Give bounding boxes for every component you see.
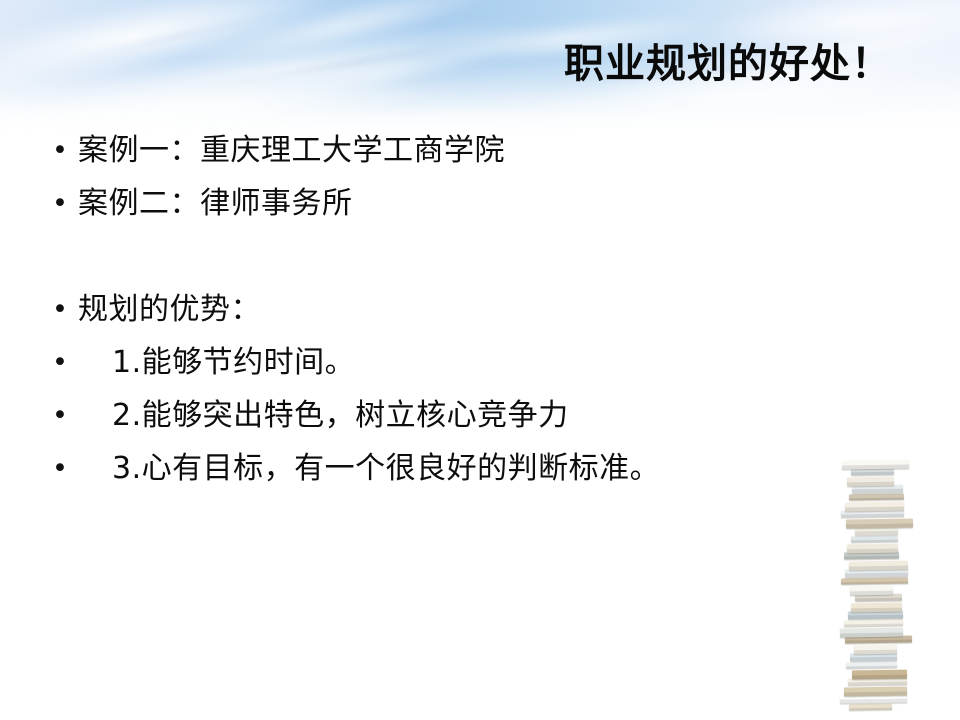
book-item xyxy=(851,468,894,476)
book-item xyxy=(841,577,908,584)
book-edge xyxy=(849,707,892,710)
book-edge xyxy=(851,539,898,542)
book-item xyxy=(850,586,894,595)
book-edge xyxy=(848,682,907,686)
book-edge xyxy=(850,657,897,661)
slide-canvas: 职业规划的好处！ • 案例一：重庆理工大学工商学院 • 案例二：律师事务所 • … xyxy=(0,0,960,720)
list-item-label: 3.心有目标，有一个很良好的判断标准。 xyxy=(78,446,660,492)
book-item xyxy=(851,670,906,679)
book-item xyxy=(848,493,903,500)
list-item-label: 1.能够节约时间。 xyxy=(78,340,355,386)
book-item xyxy=(844,619,903,626)
bullet-list: • 案例一：重庆理工大学工商学院 • 案例二：律师事务所 • 规划的优势： • … xyxy=(52,128,852,499)
list-item: • 案例二：律师事务所 xyxy=(52,181,852,234)
list-item-label: 案例二：律师事务所 xyxy=(78,181,353,227)
book-item xyxy=(847,476,894,486)
book-item xyxy=(841,510,904,518)
book-edge xyxy=(846,665,897,668)
book-edge xyxy=(849,497,904,500)
book-stack-image xyxy=(840,460,910,712)
bullet-point-icon: • xyxy=(52,128,78,174)
book-item xyxy=(854,644,898,654)
book-edge xyxy=(846,524,913,529)
list-item-label: 2.能够突出特色，树立核心竞争力 xyxy=(78,393,569,439)
slide-title: 职业规划的好处！ xyxy=(564,40,892,88)
bullet-point-icon: • xyxy=(52,181,78,227)
book-item xyxy=(849,560,908,570)
book-item xyxy=(843,552,898,560)
list-item: • 规划的优势： xyxy=(52,287,852,340)
book-edge xyxy=(850,591,893,595)
book-item xyxy=(851,602,902,612)
book-edge xyxy=(844,556,899,560)
book-item xyxy=(849,703,892,710)
list-item: • 3.心有目标，有一个很良好的判断标准。 xyxy=(52,446,852,499)
bullet-point-icon: • xyxy=(52,287,78,333)
book-edge xyxy=(841,581,908,585)
book-item xyxy=(842,459,909,469)
book-edge xyxy=(847,482,894,487)
book-edge xyxy=(854,650,897,655)
bullet-point-icon: • xyxy=(52,340,78,386)
list-item: • 2.能够突出特色，树立核心竞争力 xyxy=(52,393,852,446)
book-item xyxy=(845,636,912,644)
list-item: • 1.能够节约时间。 xyxy=(52,340,852,393)
book-edge xyxy=(851,608,902,613)
book-item xyxy=(847,544,898,553)
bullet-point-icon: • xyxy=(52,393,78,439)
book-item xyxy=(846,661,897,668)
book-edge xyxy=(855,531,898,535)
book-edge xyxy=(841,514,904,518)
book-edge xyxy=(851,472,894,476)
book-edge xyxy=(849,566,908,571)
list-item-blank xyxy=(52,234,852,287)
book-edge xyxy=(840,699,907,703)
book-item xyxy=(845,502,904,511)
book-edge xyxy=(842,464,909,469)
book-edge xyxy=(845,640,912,644)
book-edge xyxy=(844,692,907,697)
bullet-point-icon: • xyxy=(52,446,78,492)
book-edge xyxy=(855,598,902,602)
book-edge xyxy=(844,623,903,626)
book-item xyxy=(855,594,902,602)
list-item-label: 规划的优势： xyxy=(78,287,261,333)
book-item xyxy=(840,628,903,638)
book-item xyxy=(848,678,907,686)
list-item: • 案例一：重庆理工大学工商学院 xyxy=(52,128,852,181)
book-item xyxy=(851,535,898,542)
book-item xyxy=(844,686,907,696)
list-item-label: 案例一：重庆理工大学工商学院 xyxy=(78,128,505,174)
book-item xyxy=(846,518,913,528)
